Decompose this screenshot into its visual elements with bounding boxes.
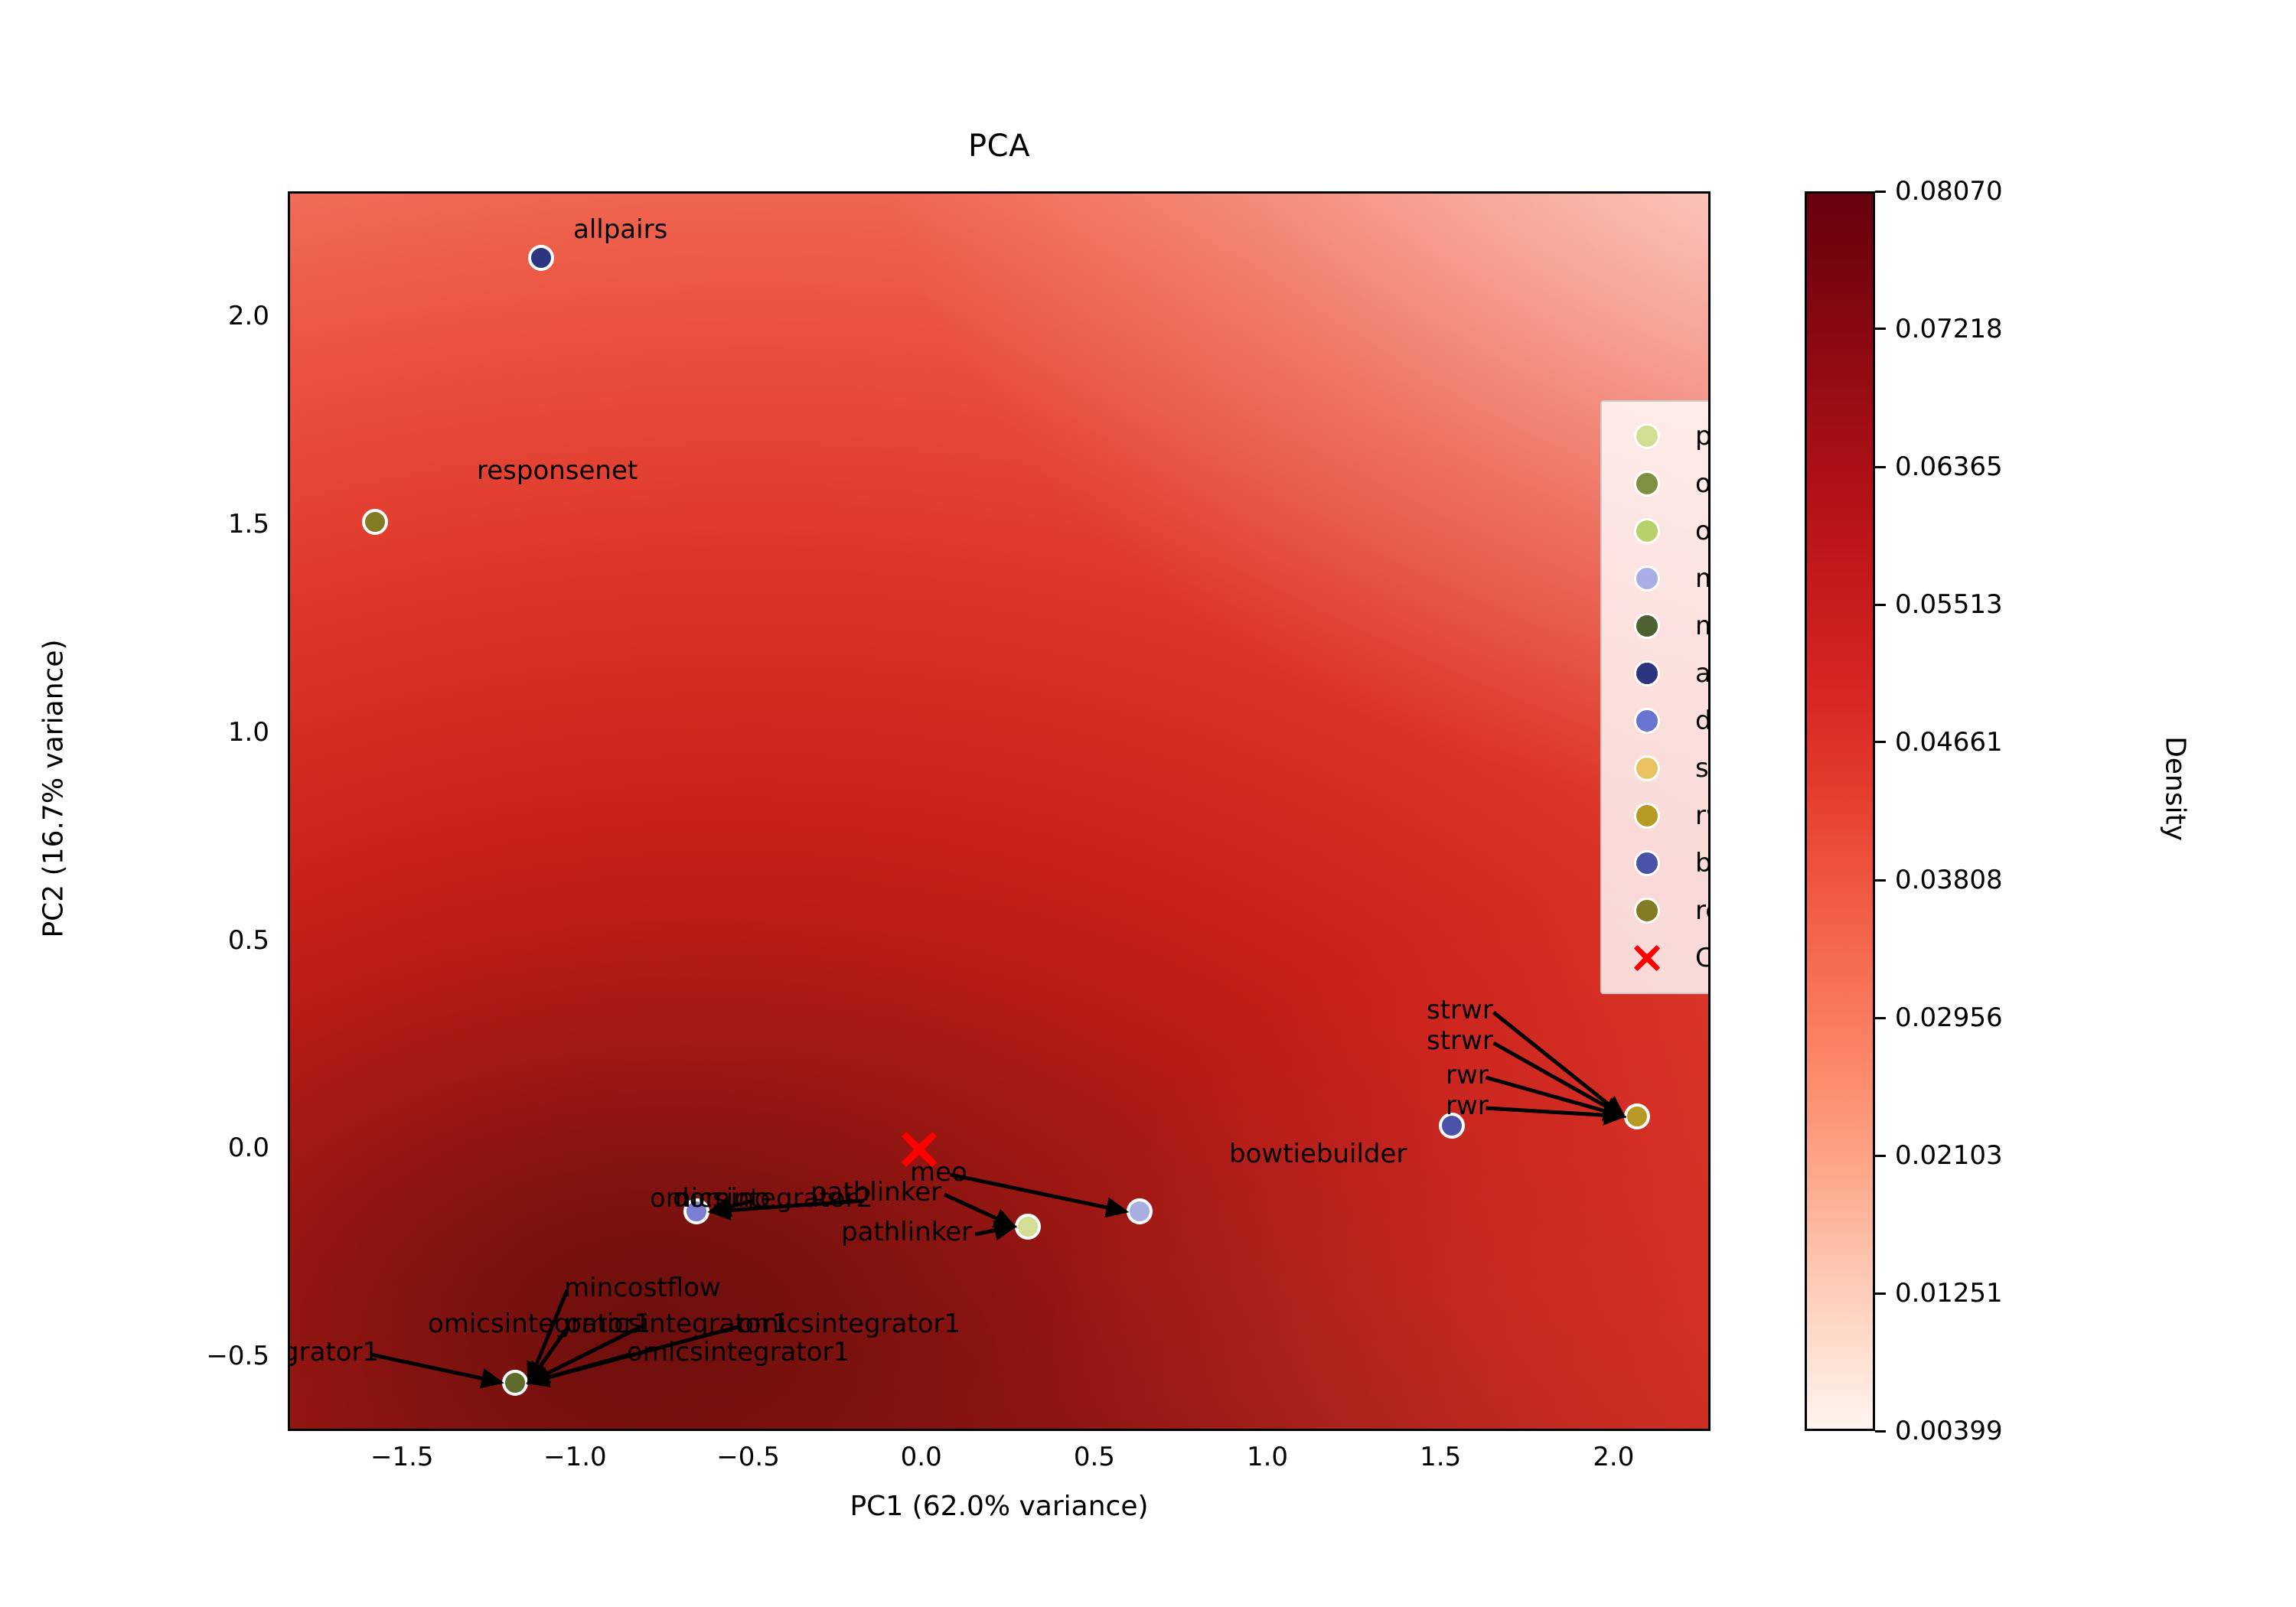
x-tick-mark [1442, 1429, 1444, 1431]
legend-item-omicsintegrator1[interactable]: omicsintegrator1 [1616, 460, 1711, 507]
y-tick-label: 2.0 [269, 301, 311, 331]
x-tick-label: −1.0 [543, 1442, 607, 1472]
annotation-label: rwr [1446, 1093, 1489, 1119]
colorbar-tick-label: 0.08070 [1895, 176, 2003, 207]
colorbar-tick-label: 0.02956 [1895, 1002, 2003, 1033]
legend-item-allpairs[interactable]: allpairs [1616, 650, 1711, 697]
annotation-label: meo [910, 1159, 967, 1185]
annotation-label: omicsintegrator1 [738, 1311, 960, 1337]
annotation-arrow [975, 1227, 1014, 1234]
annotation-label: strwr [1427, 1028, 1493, 1054]
x-tick-mark [403, 1429, 406, 1431]
colorbar-tick-mark [1875, 604, 1886, 606]
colorbar-tick-mark [1875, 466, 1886, 468]
legend-swatch-icon [1634, 755, 1660, 781]
x-tick-label: 1.5 [1420, 1442, 1461, 1472]
annotation-label: omicsintegrator1 [627, 1339, 850, 1365]
x-tick-mark [1615, 1429, 1617, 1431]
annotation-label: bowtiebuilder [1229, 1141, 1407, 1167]
legend-swatch-icon [1634, 850, 1660, 876]
y-tick-label-text: 0.5 [228, 925, 269, 956]
legend-item-meo[interactable]: meo [1616, 555, 1711, 602]
x-tick-label: 0.5 [1074, 1442, 1115, 1472]
data-point[interactable] [1015, 1214, 1041, 1240]
x-tick-label: 0.0 [901, 1442, 942, 1472]
x-tick-label: −0.5 [716, 1442, 780, 1472]
legend-swatch-icon [1634, 518, 1660, 544]
colorbar-tick-label: 0.03808 [1895, 865, 2003, 895]
colorbar-tick-mark [1875, 191, 1886, 193]
x-tick-mark [1095, 1429, 1097, 1431]
annotation-label: domino [673, 1185, 770, 1211]
y-axis-label: PC2 (16.7% variance) [38, 598, 70, 980]
annotation-label: omicsintegrator1 [428, 1311, 651, 1337]
legend-item-label: allpairs [1695, 658, 1711, 689]
x-axis-label: PC1 (62.0% variance) [288, 1491, 1711, 1522]
colorbar-tick-mark [1875, 328, 1886, 330]
data-point[interactable] [1624, 1103, 1650, 1129]
colorbar-tick-label: 0.02103 [1895, 1140, 2003, 1171]
legend-swatch-icon [1634, 898, 1660, 924]
annotation-label: mincostflow [564, 1275, 721, 1301]
colorbar-tick-label: 0.00399 [1895, 1416, 2003, 1446]
annotation-arrow [951, 1175, 1127, 1211]
x-tick-mark [576, 1429, 579, 1431]
legend-item-label: meo [1695, 563, 1711, 594]
density-heatmap-right [288, 191, 1711, 1431]
annotation-label: strwr [1427, 997, 1493, 1023]
legend-item-domino[interactable]: domino [1616, 697, 1711, 745]
colorbar-label: Density [2160, 598, 2191, 980]
legend-swatch-icon [1634, 613, 1660, 639]
data-point[interactable] [502, 1370, 528, 1396]
annotation-label: pathlinker [841, 1219, 972, 1245]
y-tick-label-text: 0.0 [228, 1133, 269, 1163]
legend-item-bowtiebuilder[interactable]: bowtiebuilder [1616, 839, 1711, 887]
y-tick-label-text: −0.5 [206, 1341, 269, 1371]
data-point[interactable] [1127, 1198, 1153, 1224]
page-title: PCA [288, 129, 1711, 164]
legend-swatch-icon [1634, 708, 1660, 734]
legend-item-pathlinker[interactable]: pathlinker [1616, 412, 1711, 460]
legend-item-strwr[interactable]: strwr [1616, 745, 1711, 792]
y-tick-label-text: 1.0 [228, 717, 269, 748]
colorbar-tick-mark [1875, 1430, 1886, 1433]
legend: pathlinkeromicsintegrator1omicsintegrato… [1600, 400, 1711, 994]
x-tick-mark [749, 1429, 752, 1431]
annotation-arrow [370, 1354, 501, 1383]
legend-item-label: omicsintegrator2 [1695, 516, 1711, 546]
legend-item-label: rwr [1695, 800, 1711, 831]
legend-swatch-icon [1634, 423, 1660, 449]
data-point[interactable] [362, 509, 388, 535]
annotation-arrow [1486, 1077, 1624, 1116]
colorbar-tick-label: 0.07218 [1895, 314, 2003, 344]
legend-item-label: domino [1695, 706, 1711, 736]
x-tick-mark [922, 1429, 925, 1431]
annotation-label: rwr [1446, 1062, 1489, 1088]
x-tick-mark [1269, 1429, 1271, 1431]
colorbar-tick-label: 0.04661 [1895, 727, 2003, 758]
legend-item-centroid[interactable]: Centroid [1616, 934, 1711, 982]
x-tick-label: 1.0 [1247, 1442, 1288, 1472]
y-tick-label: 0.5 [269, 925, 311, 956]
legend-item-label: omicsintegrator1 [1695, 468, 1711, 499]
legend-item-mincostflow[interactable]: mincostflow [1616, 602, 1711, 650]
pca-figure: PCA allpairsresponsenetstrwrstrwrrwrrwrb… [0, 0, 2296, 1607]
legend-item-label: strwr [1695, 753, 1711, 784]
annotation-arrow [529, 1354, 630, 1383]
annotation-arrow [1494, 1012, 1624, 1116]
y-tick-label: 1.5 [269, 509, 311, 539]
colorbar-tick-label: 0.06365 [1895, 451, 2003, 482]
y-tick-label-text: 1.5 [228, 509, 269, 539]
legend-item-omicsintegrator2[interactable]: omicsintegrator2 [1616, 507, 1711, 555]
y-tick-label: 0.0 [269, 1133, 311, 1163]
legend-swatch-icon [1634, 803, 1660, 829]
legend-item-label: responsenet [1695, 895, 1711, 926]
colorbar: 0.080700.072180.063650.055130.046610.038… [1805, 191, 1875, 1431]
annotation-arrows [290, 194, 1711, 1431]
legend-item-label: bowtiebuilder [1695, 848, 1711, 878]
colorbar-tick-label: 0.01251 [1895, 1278, 2003, 1309]
colorbar-tick-mark [1875, 1155, 1886, 1157]
x-tick-label: −1.5 [370, 1442, 434, 1472]
legend-item-label: Centroid [1695, 943, 1711, 973]
colorbar-tick-mark [1875, 1292, 1886, 1295]
plot-area: allpairsresponsenetstrwrstrwrrwrrwrbowti… [288, 191, 1711, 1431]
data-point[interactable] [528, 245, 554, 271]
centroid-cross-icon [1632, 943, 1662, 973]
legend-swatch-icon [1634, 660, 1660, 686]
density-heatmap-highlight [288, 191, 1711, 1431]
colorbar-tick-label: 0.05513 [1895, 589, 2003, 620]
colorbar-tick-mark [1875, 741, 1886, 743]
annotation-label: allpairs [573, 217, 667, 243]
colorbar-gradient [1805, 191, 1875, 1431]
annotation-arrow [1486, 1108, 1624, 1116]
density-heatmap-base [288, 191, 1711, 1431]
legend-item-responsenet[interactable]: responsenet [1616, 887, 1711, 934]
density-heatmap-peak [288, 191, 1711, 1431]
legend-item-rwr[interactable]: rwr [1616, 792, 1711, 839]
colorbar-tick-mark [1875, 1017, 1886, 1019]
legend-swatch-icon [1634, 566, 1660, 592]
y-tick-label: 1.0 [269, 717, 311, 748]
y-tick-label-text: 2.0 [228, 301, 269, 331]
annotation-label: omicsintegrator1 [288, 1339, 379, 1365]
legend-item-label: pathlinker [1695, 421, 1711, 451]
density-heatmap-ridge [288, 191, 1711, 1431]
annotation-arrow [1494, 1043, 1624, 1116]
legend-swatch-icon [1634, 471, 1660, 497]
colorbar-tick-mark [1875, 879, 1886, 882]
x-tick-label: 2.0 [1593, 1442, 1634, 1472]
annotation-label: responsenet [477, 458, 638, 484]
legend-item-label: mincostflow [1695, 611, 1711, 641]
